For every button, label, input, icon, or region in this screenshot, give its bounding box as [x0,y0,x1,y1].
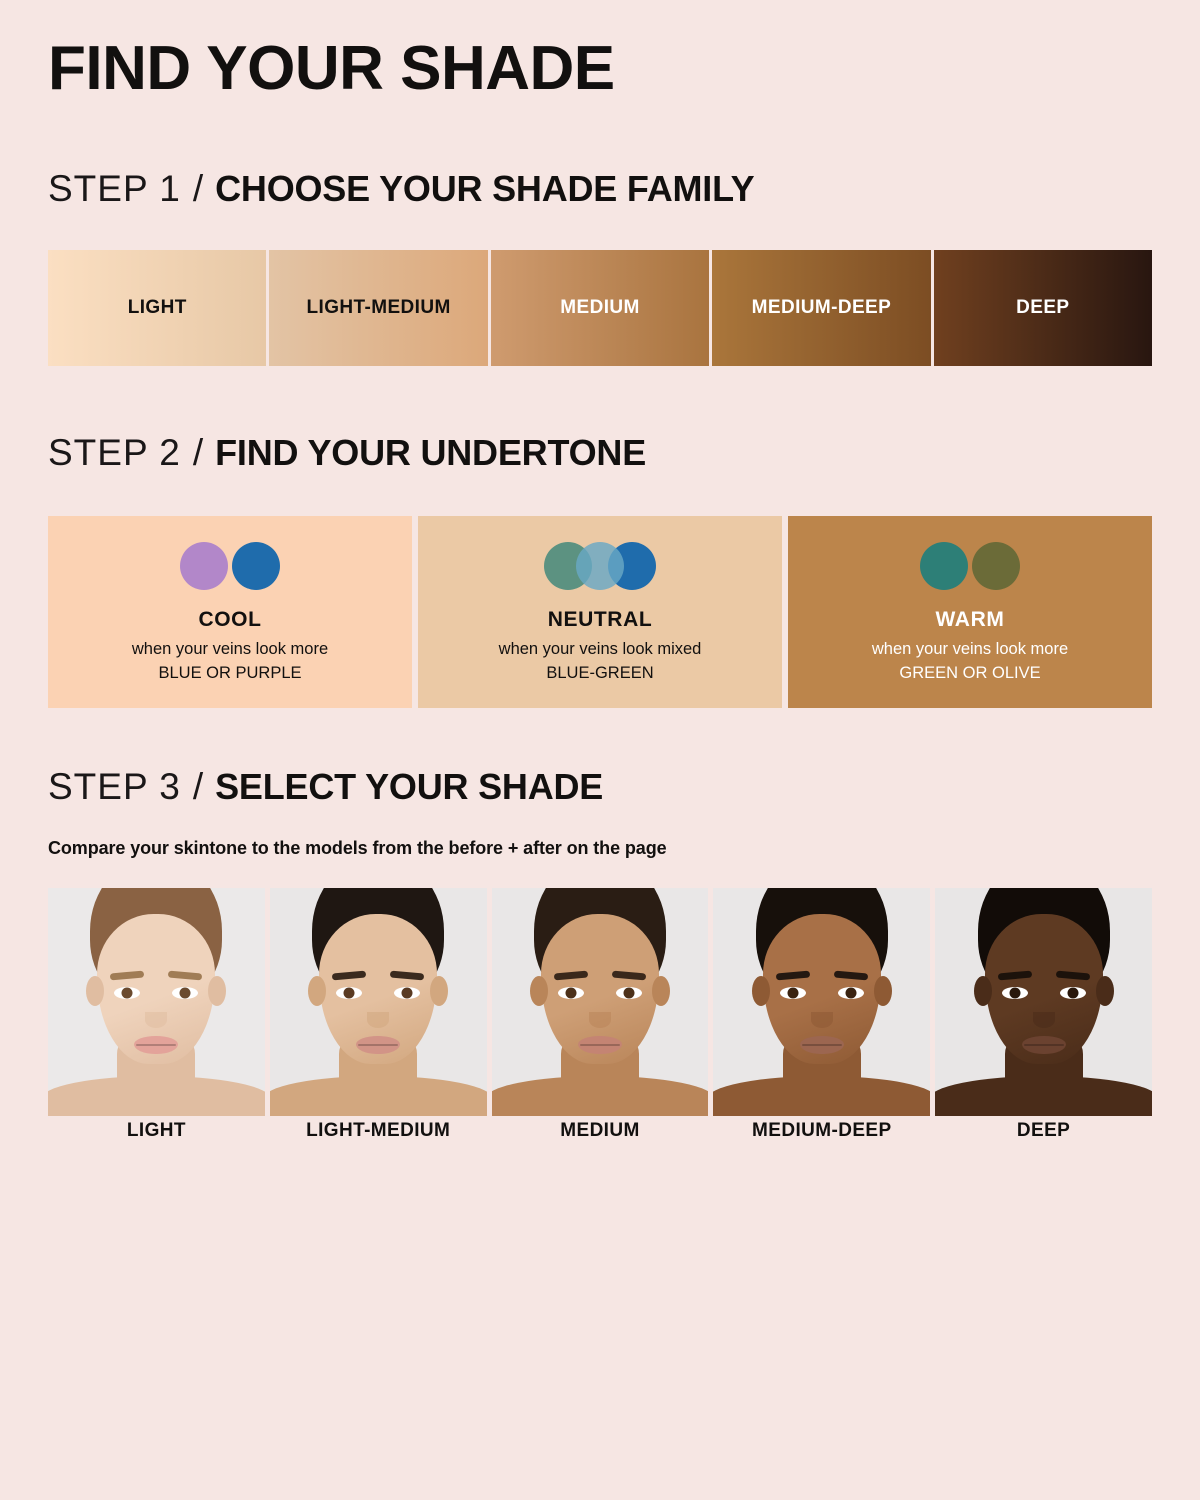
model-photo-medium[interactable] [492,888,709,1116]
model-label-medium: MEDIUM [492,1120,709,1142]
model-eye-left [780,987,806,999]
model-ear-right [652,976,670,1006]
step-3-number: STEP 3 [48,766,181,808]
model-iris [787,988,798,999]
model-label-light-medium: LIGHT-MEDIUM [270,1120,487,1142]
model-portrait [713,888,930,1116]
model-iris [1067,988,1078,999]
shade-family-label: MEDIUM-DEEP [752,297,892,319]
model-nose [589,1012,611,1028]
undertone-description-line1: when your veins look more [132,638,328,662]
undertone-swatch-dots-icon [920,542,1020,590]
undertone-name: WARM [936,608,1005,632]
model-iris [344,988,355,999]
model-eye-right [1060,987,1086,999]
model-lip-line [358,1044,398,1046]
step-2-title: FIND YOUR UNDERTONE [215,432,646,474]
undertone-card-cool[interactable]: COOLwhen your veins look moreBLUE OR PUR… [48,516,412,708]
undertone-description-line2: BLUE OR PURPLE [132,662,328,686]
shade-family-label: DEEP [1016,297,1069,319]
model-ear-left [752,976,770,1006]
model-photo-light-medium[interactable] [270,888,487,1116]
undertone-name: COOL [198,608,261,632]
model-lip-line [1024,1044,1064,1046]
model-ear-right [874,976,892,1006]
undertone-description-line2: GREEN OR OLIVE [872,662,1068,686]
model-label-light: LIGHT [48,1120,265,1142]
model-nose [145,1012,167,1028]
undertone-panel-row[interactable]: COOLwhen your veins look moreBLUE OR PUR… [48,516,1152,708]
page-title: FIND YOUR SHADE [48,36,615,101]
model-iris [402,988,413,999]
undertone-description-line1: when your veins look more [872,638,1068,662]
model-iris [565,988,576,999]
model-label-medium-deep: MEDIUM-DEEP [713,1120,930,1142]
undertone-description-line2: BLUE-GREEN [499,662,702,686]
step-1-separator: / [193,168,203,210]
shade-family-deep[interactable]: DEEP [934,250,1152,366]
model-photo-medium-deep[interactable] [713,888,930,1116]
shade-family-label: MEDIUM [560,297,639,319]
model-portrait [270,888,487,1116]
step-3-subtitle: Compare your skintone to the models from… [48,838,667,859]
undertone-dot [920,542,968,590]
step-2-number: STEP 2 [48,432,181,474]
undertone-dot [180,542,228,590]
model-lip-line [136,1044,176,1046]
model-portrait [935,888,1152,1116]
undertone-card-warm[interactable]: WARMwhen your veins look moreGREEN OR OL… [788,516,1152,708]
model-photo-deep[interactable] [935,888,1152,1116]
model-portrait [492,888,709,1116]
model-eye-right [838,987,864,999]
model-lip-line [802,1044,842,1046]
shade-family-label: LIGHT-MEDIUM [307,297,451,319]
model-photo-row[interactable] [48,888,1152,1116]
model-ear-right [208,976,226,1006]
step-2-separator: / [193,432,203,474]
step-1-heading: STEP 1 / CHOOSE YOUR SHADE FAMILY [48,168,754,210]
undertone-description: when your veins look moreBLUE OR PURPLE [132,638,328,686]
shade-family-medium-deep[interactable]: MEDIUM-DEEP [712,250,933,366]
model-iris [845,988,856,999]
model-iris [623,988,634,999]
model-ear-left [974,976,992,1006]
model-ear-right [1096,976,1114,1006]
model-photo-light[interactable] [48,888,265,1116]
undertone-dot [232,542,280,590]
undertone-dot [972,542,1020,590]
undertone-dot [576,542,624,590]
model-lip-line [580,1044,620,1046]
shade-family-label: LIGHT [128,297,187,319]
model-iris [1009,988,1020,999]
step-3-heading: STEP 3 / SELECT YOUR SHADE [48,766,603,808]
step-3-title: SELECT YOUR SHADE [215,766,603,808]
model-label-row: LIGHTLIGHT-MEDIUMMEDIUMMEDIUM-DEEPDEEP [48,1120,1152,1142]
undertone-card-neutral[interactable]: NEUTRALwhen your veins look mixedBLUE-GR… [418,516,782,708]
model-eye-left [558,987,584,999]
step-1-number: STEP 1 [48,168,181,210]
shade-family-light-medium[interactable]: LIGHT-MEDIUM [269,250,490,366]
model-eye-right [394,987,420,999]
undertone-name: NEUTRAL [548,608,653,632]
undertone-description-line1: when your veins look mixed [499,638,702,662]
model-ear-right [430,976,448,1006]
shade-family-medium[interactable]: MEDIUM [491,250,712,366]
step-2-heading: STEP 2 / FIND YOUR UNDERTONE [48,432,646,474]
model-eye-left [1002,987,1028,999]
model-iris [122,988,133,999]
model-ear-left [530,976,548,1006]
step-1-title: CHOOSE YOUR SHADE FAMILY [215,168,754,210]
shade-family-light[interactable]: LIGHT [48,250,269,366]
shade-finder-page: FIND YOUR SHADE STEP 1 / CHOOSE YOUR SHA… [0,0,1200,1500]
undertone-description: when your veins look moreGREEN OR OLIVE [872,638,1068,686]
shade-family-bar[interactable]: LIGHTLIGHT-MEDIUMMEDIUMMEDIUM-DEEPDEEP [48,250,1152,366]
undertone-swatch-dots-icon [180,542,280,590]
model-nose [367,1012,389,1028]
model-eye-left [336,987,362,999]
model-eye-right [616,987,642,999]
undertone-description: when your veins look mixedBLUE-GREEN [499,638,702,686]
undertone-swatch-dots-icon [544,542,656,590]
model-label-deep: DEEP [935,1120,1152,1142]
step-3-separator: / [193,766,203,808]
model-iris [180,988,191,999]
model-portrait [48,888,265,1116]
model-nose [1033,1012,1055,1028]
model-nose [811,1012,833,1028]
